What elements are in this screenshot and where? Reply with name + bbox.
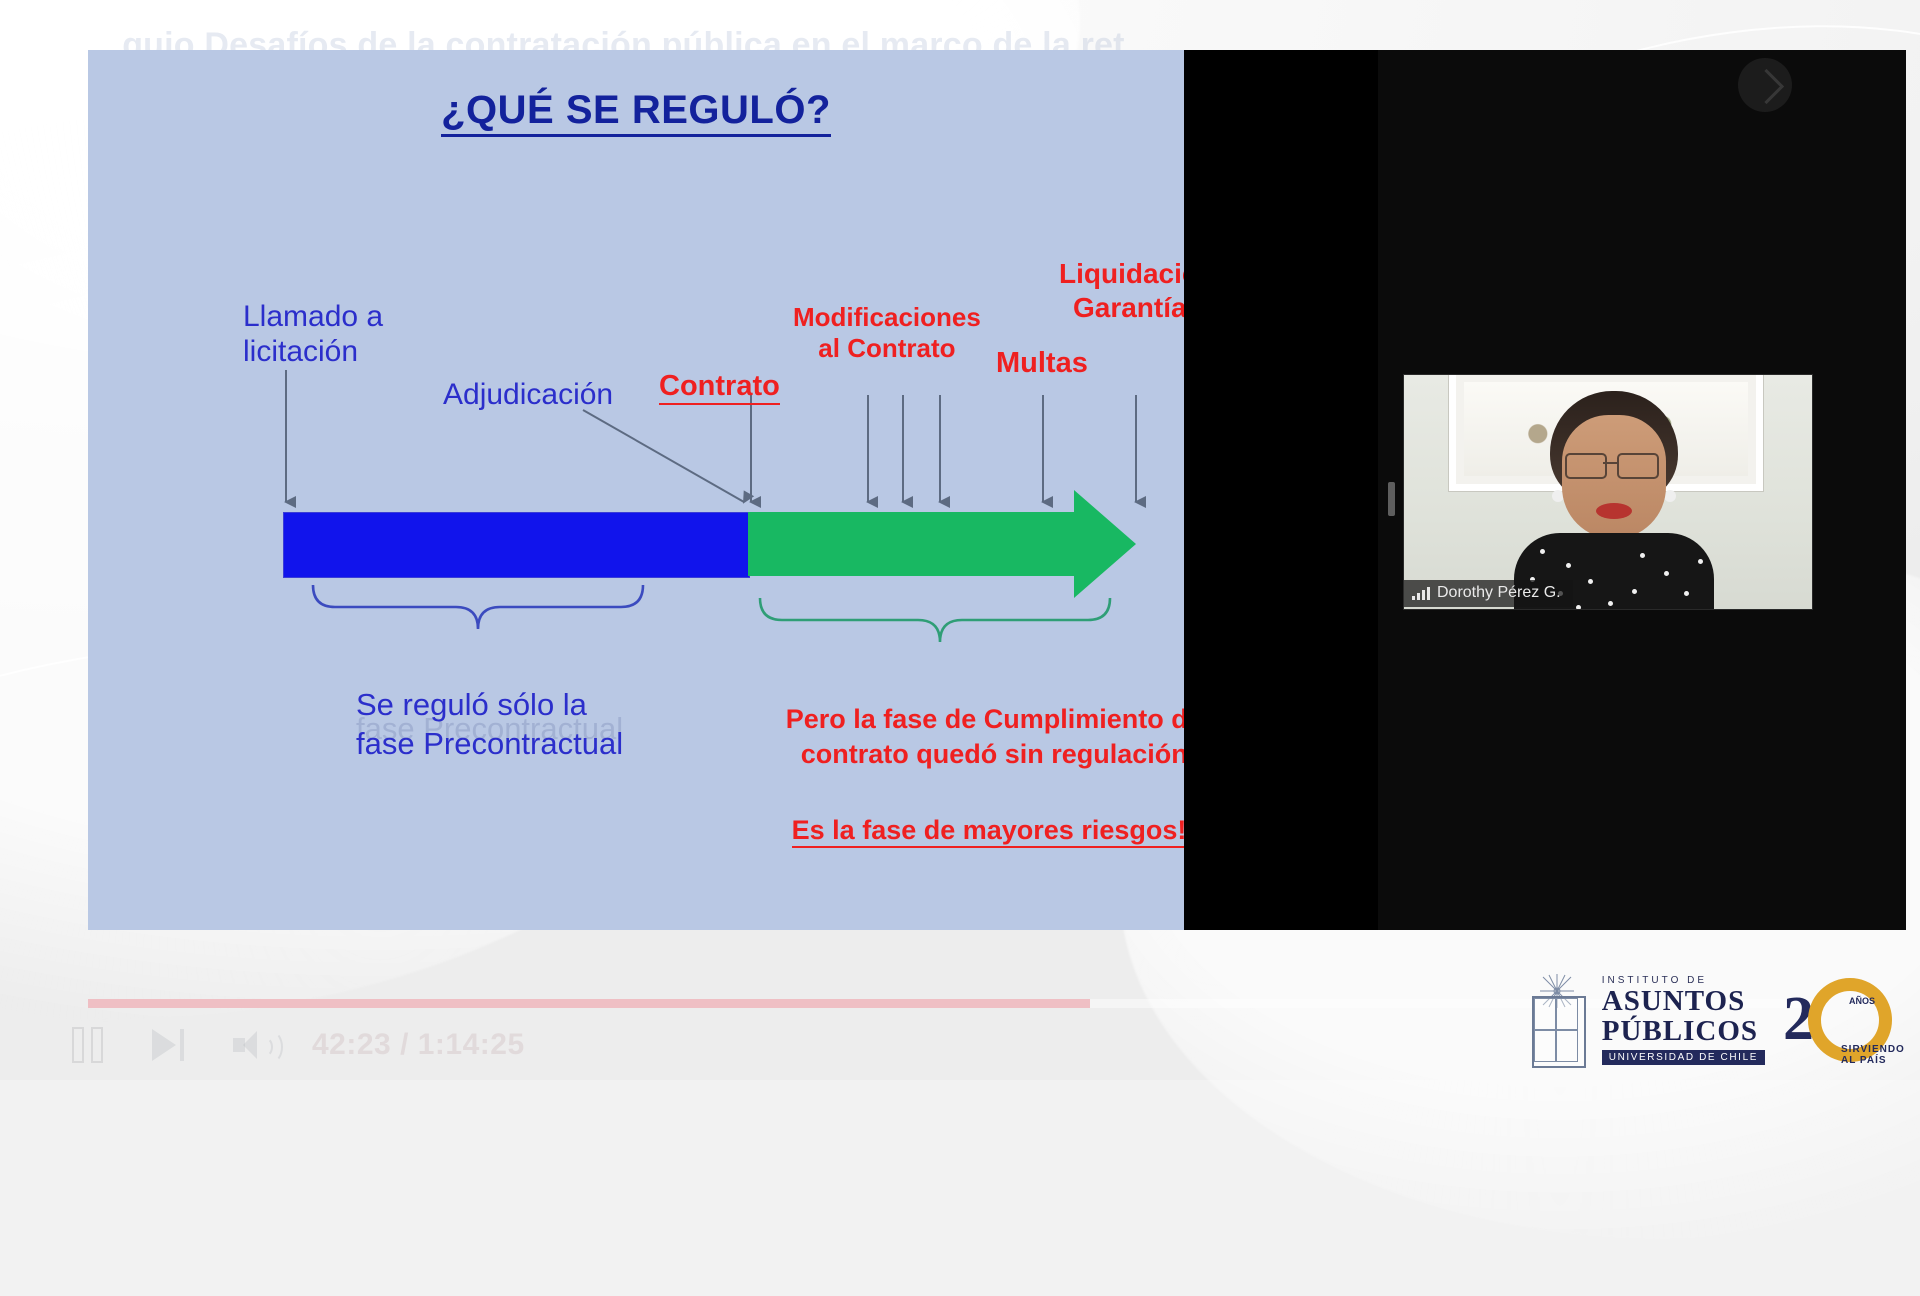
presentation-slide: ¿QUÉ SE REGULÓ? Llamado a licitación	[88, 50, 1184, 930]
presenter-video-thumbnail[interactable]: Dorothy Pérez G.	[1403, 374, 1813, 610]
video-corner-button-icon[interactable]	[1738, 58, 1792, 112]
logo-wordmark: INSTITUTO DE ASUNTOS PÚBLICOS UNIVERSIDA…	[1602, 975, 1765, 1065]
note-cumplimiento: Pero la fase de Cumplimiento del contrat…	[748, 702, 1184, 772]
logo-line-2: PÚBLICOS	[1602, 1017, 1765, 1046]
video-progress-fill	[88, 999, 1090, 1008]
anniversary-word: AÑOS	[1849, 996, 1875, 1006]
signal-bars-icon	[1412, 586, 1430, 600]
presenter-glasses-left	[1565, 453, 1607, 479]
presenter-glasses-right	[1617, 453, 1659, 479]
note-riesgo: Es la fase de mayores riesgos!!!	[748, 815, 1184, 846]
video-controls-bar[interactable]: 42:23 / 1:14:25	[66, 1024, 525, 1066]
crest-shield	[1532, 996, 1586, 1068]
video-player-stage[interactable]: ¿QUÉ SE REGULÓ? Llamado a licitación	[88, 50, 1810, 930]
presenter-glasses-bridge	[1603, 462, 1617, 464]
presenter-lips	[1596, 503, 1632, 519]
next-track-icon	[152, 1029, 186, 1061]
iap-logo: INSTITUTO DE ASUNTOS PÚBLICOS UNIVERSIDA…	[1524, 974, 1892, 1066]
logo-line-1: ASUNTOS	[1602, 987, 1765, 1016]
pause-button[interactable]	[66, 1024, 108, 1066]
time-display: 42:23 / 1:14:25	[312, 1028, 525, 1062]
presenter-earring-right	[1664, 490, 1676, 502]
note-precontractual: Se reguló sólo la fase Precontractual	[356, 686, 623, 764]
volume-button[interactable]	[230, 1024, 272, 1066]
video-resize-handle[interactable]	[1388, 482, 1395, 516]
logo-tagline: SIRVIENDO AL PAÍS	[1841, 1044, 1905, 1066]
presenter-name-badge: Dorothy Pérez G.	[1404, 580, 1573, 607]
anniversary-mark: 2 AÑOS SIRVIENDO AL PAÍS	[1783, 978, 1892, 1062]
note-riesgo-text: Es la fase de mayores riesgos!!!	[792, 815, 1184, 848]
braces-group	[88, 50, 1184, 930]
pause-icon	[72, 1027, 103, 1063]
volume-icon	[231, 1029, 271, 1061]
presenter-name-text: Dorothy Pérez G.	[1437, 584, 1561, 602]
universidad-de-chile-crest-icon	[1524, 974, 1590, 1066]
logo-university: UNIVERSIDAD DE CHILE	[1602, 1050, 1765, 1065]
next-button[interactable]	[148, 1024, 190, 1066]
